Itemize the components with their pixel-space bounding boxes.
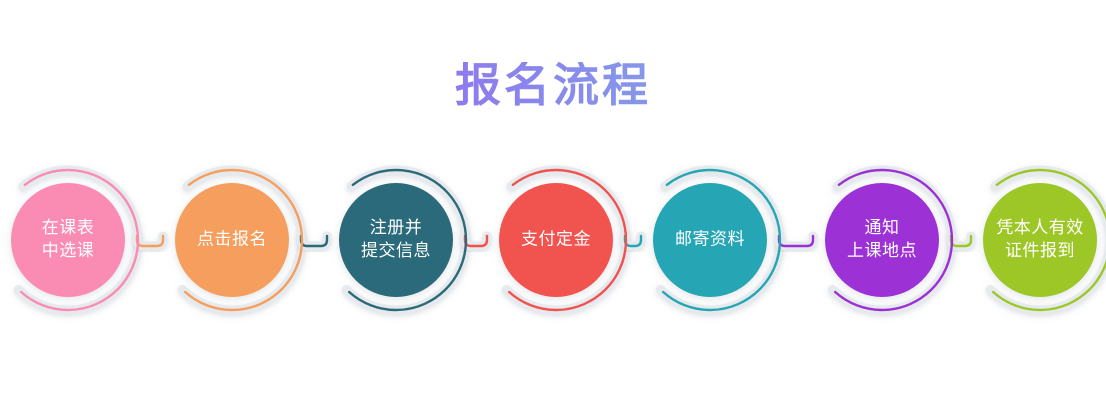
step-label-1: 中选课 bbox=[42, 241, 95, 260]
step-label-3: 注册并 bbox=[370, 218, 423, 237]
step-label-7: 证件报到 bbox=[1005, 241, 1075, 260]
step-label-6: 通知 bbox=[865, 218, 900, 237]
step-label-1: 在课表 bbox=[42, 218, 95, 237]
step-label-5: 邮寄资料 bbox=[675, 229, 745, 248]
step-label-4: 支付定金 bbox=[521, 229, 591, 248]
step-label-6: 上课地点 bbox=[847, 241, 917, 260]
flow-diagram: 在课表中选课点击报名注册并提交信息支付定金邮寄资料通知上课地点凭本人有效证件报到 bbox=[0, 0, 1106, 401]
registration-flow-infographic: 报名流程 在课表中选课点击报名注册并提交信息支付定金邮寄资料通知上课地点凭本人有… bbox=[0, 0, 1106, 401]
step-label-2: 点击报名 bbox=[197, 229, 267, 248]
step-label-3: 提交信息 bbox=[361, 241, 431, 260]
step-label-7: 凭本人有效 bbox=[996, 218, 1084, 237]
